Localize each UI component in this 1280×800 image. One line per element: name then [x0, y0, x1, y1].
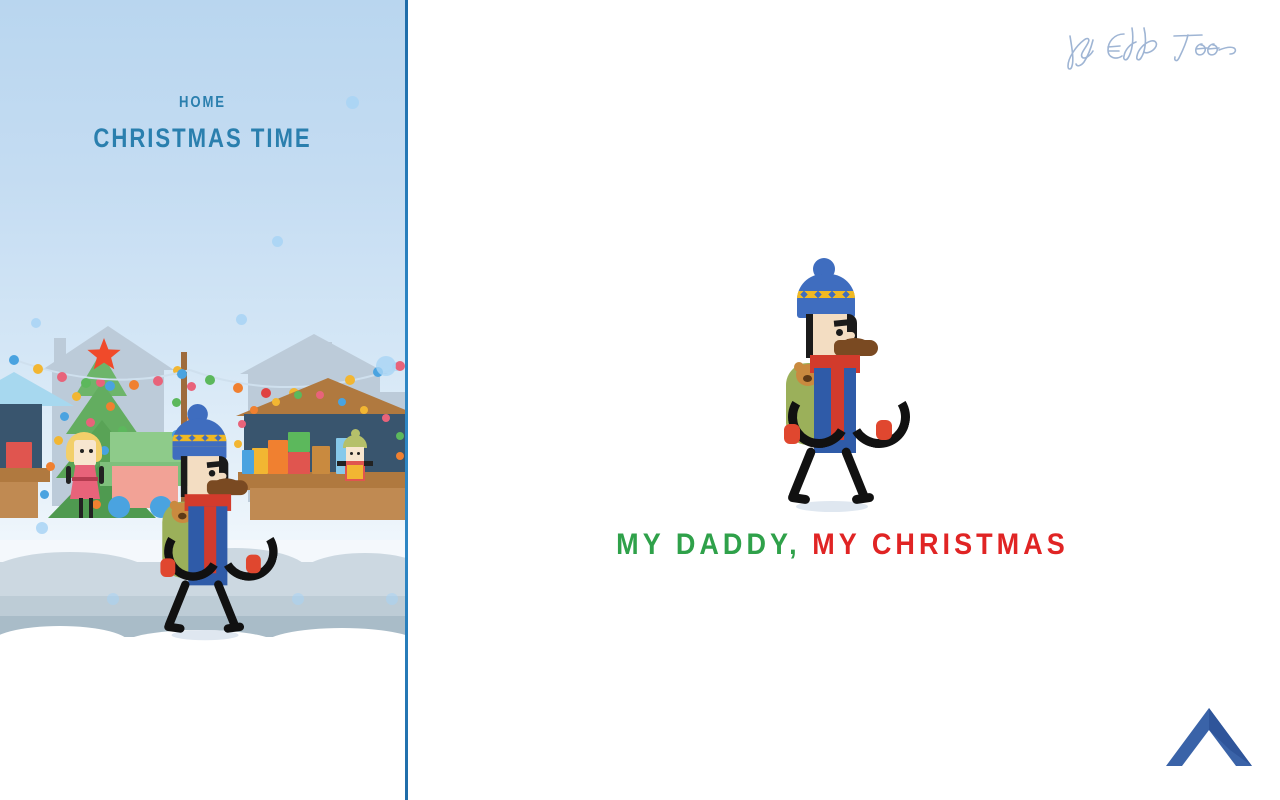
stall-light: [250, 406, 258, 414]
right-stall-base: [250, 488, 405, 520]
stall-light: [316, 391, 324, 399]
stall-light: [382, 414, 390, 422]
character-hair: [806, 314, 813, 358]
artist-signature: [1062, 18, 1252, 76]
character-mitten: [876, 420, 892, 440]
stall-gift: [268, 440, 288, 474]
character-mitten: [784, 424, 800, 444]
stall-light: [272, 398, 280, 406]
cart-wheel: [108, 496, 130, 518]
stall-gift: [242, 450, 254, 474]
character-eye: [836, 329, 843, 336]
girl-arm: [66, 466, 71, 484]
character-foot: [851, 493, 874, 505]
left-stall-base: [0, 482, 38, 518]
snow-layer: [0, 637, 405, 800]
girl-face: [74, 440, 96, 466]
panel-eyebrow-label: HOME: [36, 94, 368, 112]
tree-bauble: [40, 490, 49, 499]
teddy-muzzle: [178, 513, 186, 520]
project-caption: MY DADDY, MY CHRISTMAS: [449, 528, 1237, 562]
girl-leg: [79, 498, 83, 518]
blue-chevron-arrow-logo[interactable]: [1166, 706, 1252, 768]
snowflake-dot: [36, 522, 48, 534]
snowflake-dot: [386, 593, 398, 605]
panel-title: CHRISTMAS TIME: [36, 123, 368, 154]
girl-eye: [89, 449, 93, 453]
vendor-eye: [357, 452, 360, 455]
stall-light: [396, 432, 404, 440]
caption-red-part: MY CHRISTMAS: [812, 528, 1069, 561]
character-eye: [209, 470, 216, 477]
signature-script: [1062, 18, 1252, 76]
stall-light: [396, 452, 404, 460]
vendor-gift: [347, 465, 363, 479]
character-mitten: [160, 558, 175, 577]
character-mitten: [246, 555, 261, 574]
teddy-muzzle: [803, 375, 812, 382]
snowflake-dot: [376, 356, 396, 376]
snowflake-dot: [236, 314, 247, 325]
girl-eye: [80, 449, 84, 453]
stall-light: [238, 420, 246, 428]
vendor-arm: [364, 461, 373, 466]
character-mustache: [214, 478, 238, 489]
snowflake-dot: [31, 318, 41, 328]
snowflake-dot: [107, 593, 119, 605]
stall-gift: [288, 432, 310, 452]
vendor-pom: [351, 429, 360, 438]
path-band: [0, 596, 405, 618]
vendor-arm: [337, 461, 346, 466]
caption-green-part: MY DADDY,: [616, 528, 800, 561]
panel-heading-group: HOME CHRISTMAS TIME: [0, 94, 405, 154]
chevron-arrow-icon: [1166, 706, 1252, 768]
character-foot: [787, 493, 810, 505]
tree-bauble: [46, 462, 55, 471]
girl-leg: [89, 498, 93, 518]
snowflake-dot: [272, 236, 283, 247]
hat-zigzag-pattern: [797, 291, 855, 304]
snowflake-dot: [292, 593, 304, 605]
stall-light: [360, 406, 368, 414]
beanie-hat: [173, 419, 227, 460]
vendor-eye: [350, 452, 353, 455]
page-root: HOME CHRISTMAS TIME: [0, 0, 1280, 800]
beanie-hat: [797, 274, 855, 318]
panel-divider: [405, 0, 408, 800]
tree-bauble: [92, 500, 101, 509]
character-mustache: [842, 338, 868, 350]
tree-bauble: [60, 412, 69, 421]
girl-arm: [99, 466, 104, 484]
stall-light: [234, 440, 242, 448]
stall-light: [338, 398, 346, 406]
tree-bauble: [54, 436, 63, 445]
stall-light: [294, 391, 302, 399]
vendor-face: [346, 447, 364, 462]
christmas-market-illustration-panel: HOME CHRISTMAS TIME: [0, 0, 405, 800]
stall-gift: [312, 446, 330, 474]
girl-belt: [72, 477, 98, 481]
hat-zigzag-pattern: [173, 435, 227, 447]
tree-bauble: [86, 418, 95, 427]
stall-gift: [252, 448, 268, 474]
stall-gift: [288, 452, 310, 474]
left-stall-counter: [0, 468, 50, 482]
